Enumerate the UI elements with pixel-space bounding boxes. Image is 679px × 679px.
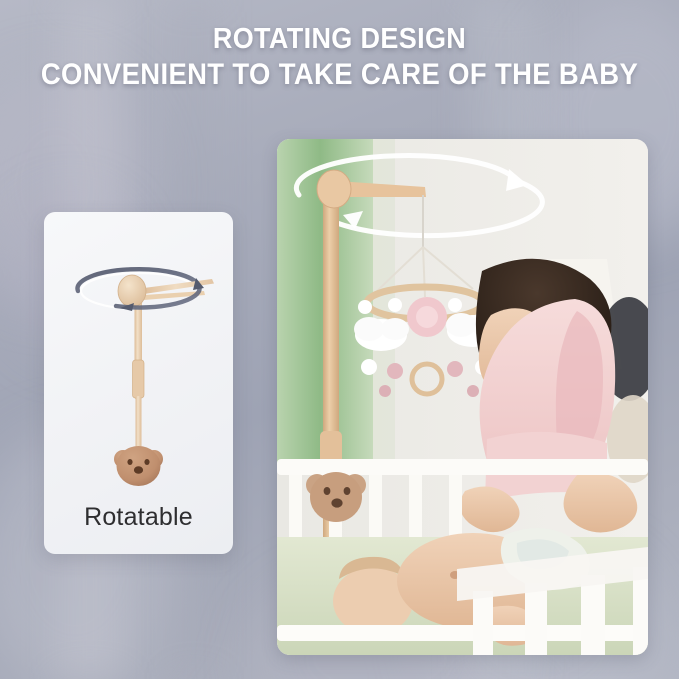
pivot-disc — [118, 275, 146, 307]
pom-pom-pink — [467, 385, 479, 397]
bear-head-clamp — [114, 446, 163, 486]
pom-pom — [448, 298, 462, 312]
pom-pom — [361, 359, 377, 375]
pom-pom-pink — [387, 363, 403, 379]
infographic-canvas: ROTATING DESIGN CONVENIENT TO TAKE CARE … — [0, 0, 679, 679]
mobile-arm-diagram — [44, 212, 233, 500]
pom-pom-pink — [447, 361, 463, 377]
card-caption: Rotatable — [44, 503, 233, 532]
pom-pom — [388, 298, 402, 312]
pom-pom-pink — [379, 385, 391, 397]
headline: ROTATING DESIGN CONVENIENT TO TAKE CARE … — [24, 22, 655, 93]
headline-line-1: ROTATING DESIGN — [24, 22, 655, 57]
lifestyle-photo — [277, 139, 648, 655]
rotatable-feature-card: Rotatable — [44, 212, 233, 554]
mobile-pivot-disc — [317, 170, 351, 208]
headline-line-2: CONVENIENT TO TAKE CARE OF THE BABY — [24, 57, 655, 93]
pom-pom — [358, 300, 372, 314]
telescoping-collar — [133, 360, 145, 398]
